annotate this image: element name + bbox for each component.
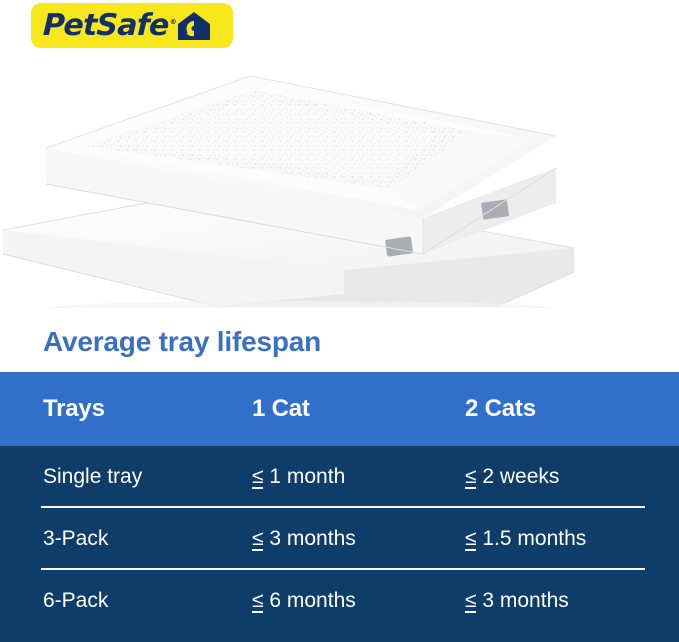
table-header-row: Trays 1 Cat 2 Cats	[0, 372, 679, 446]
section-title: Average tray lifespan	[43, 325, 321, 359]
cell-tray-type: 6-Pack	[0, 589, 252, 613]
less-than-or-equal-icon: ≤	[465, 527, 477, 552]
cell-one-cat-lifespan: ≤ 1 month	[252, 465, 465, 490]
logo-wordmark: PetSafe®	[42, 11, 176, 41]
cell-tray-type: Single tray	[0, 465, 252, 489]
petsafe-logo: PetSafe®	[31, 3, 233, 48]
less-than-or-equal-icon: ≤	[465, 465, 477, 490]
column-header-trays: Trays	[0, 395, 252, 423]
product-photo	[0, 58, 679, 308]
table-row: 6-Pack ≤ 6 months ≤ 3 months	[0, 570, 679, 632]
litter-tray-illustration	[0, 58, 679, 308]
cell-two-cats-value: 2 weeks	[482, 465, 559, 488]
tray-tab	[385, 236, 413, 256]
cell-one-cat-value: 6 months	[269, 589, 355, 612]
table-row: 3-Pack ≤ 3 months ≤ 1.5 months	[0, 508, 679, 570]
less-than-or-equal-icon: ≤	[252, 527, 264, 552]
table-row: Single tray ≤ 1 month ≤ 2 weeks	[0, 446, 679, 508]
product-infographic-page: PetSafe®	[0, 0, 679, 642]
cell-two-cats-lifespan: ≤ 3 months	[465, 589, 679, 614]
cell-two-cats-value: 1.5 months	[482, 527, 586, 550]
column-header-two-cats: 2 Cats	[465, 395, 679, 423]
tray-lifespan-table: Trays 1 Cat 2 Cats Single tray ≤ 1 month…	[0, 372, 679, 642]
less-than-or-equal-icon: ≤	[465, 589, 477, 614]
table-body: Single tray ≤ 1 month ≤ 2 weeks 3-Pack ≤…	[0, 446, 679, 642]
cell-two-cats-value: 3 months	[482, 589, 568, 612]
cell-one-cat-lifespan: ≤ 3 months	[252, 527, 465, 552]
registered-trademark-symbol: ®	[170, 18, 176, 26]
cell-one-cat-value: 3 months	[269, 527, 355, 550]
cell-tray-type: 3-Pack	[0, 527, 252, 551]
cell-two-cats-lifespan: ≤ 2 weeks	[465, 465, 679, 490]
less-than-or-equal-icon: ≤	[252, 465, 264, 490]
column-header-one-cat: 1 Cat	[252, 395, 465, 423]
cell-one-cat-value: 1 month	[269, 465, 345, 488]
cell-two-cats-lifespan: ≤ 1.5 months	[465, 527, 679, 552]
house-icon	[177, 10, 211, 42]
less-than-or-equal-icon: ≤	[252, 589, 264, 614]
tray-tab	[481, 199, 509, 219]
cell-one-cat-lifespan: ≤ 6 months	[252, 589, 465, 614]
